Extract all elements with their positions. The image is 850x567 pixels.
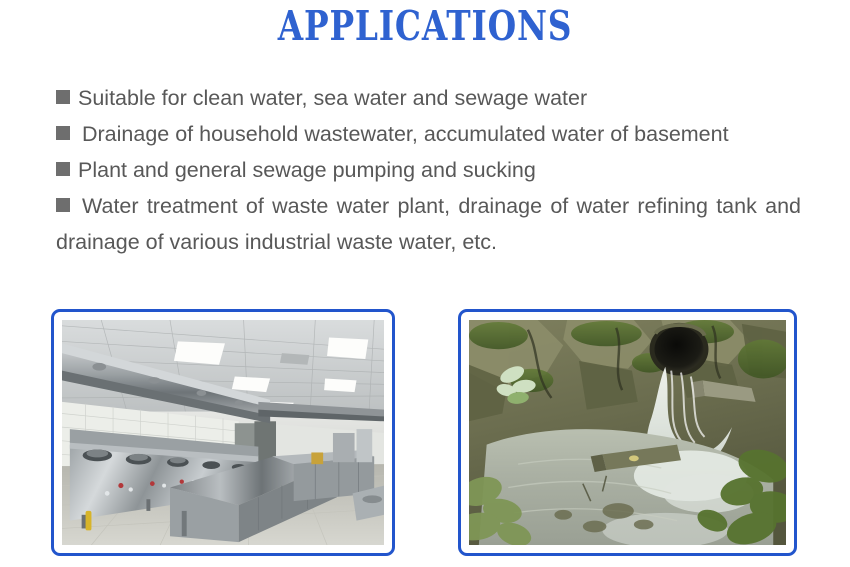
applications-list: Suitable for clean water, sea water and … bbox=[56, 80, 801, 260]
list-item-label: Drainage of household wastewater, accumu… bbox=[82, 122, 729, 146]
drainage-outfall-illustration bbox=[469, 320, 786, 545]
list-item: Drainage of household wastewater, accumu… bbox=[56, 116, 801, 152]
page-title: APPLICATIONS bbox=[85, 2, 765, 50]
list-item: Plant and general sewage pumping and suc… bbox=[56, 152, 801, 188]
list-item-label: Plant and general sewage pumping and suc… bbox=[78, 158, 536, 182]
list-item: Suitable for clean water, sea water and … bbox=[56, 80, 801, 116]
list-item: Water treatment of waste water plant, dr… bbox=[56, 188, 801, 260]
photo-frame-commercial-kitchen bbox=[51, 309, 395, 556]
photo-commercial-kitchen bbox=[62, 320, 384, 545]
bullet-square-icon bbox=[56, 90, 70, 104]
bullet-square-icon bbox=[56, 162, 70, 176]
bullet-square-icon bbox=[56, 198, 70, 212]
list-item-label: Suitable for clean water, sea water and … bbox=[78, 86, 587, 110]
photo-frame-drainage-outfall bbox=[458, 309, 797, 556]
bullet-square-icon bbox=[56, 126, 70, 140]
list-item-label: Water treatment of waste water plant, dr… bbox=[56, 194, 801, 254]
commercial-kitchen-illustration bbox=[62, 320, 384, 545]
photo-drainage-outfall bbox=[469, 320, 786, 545]
